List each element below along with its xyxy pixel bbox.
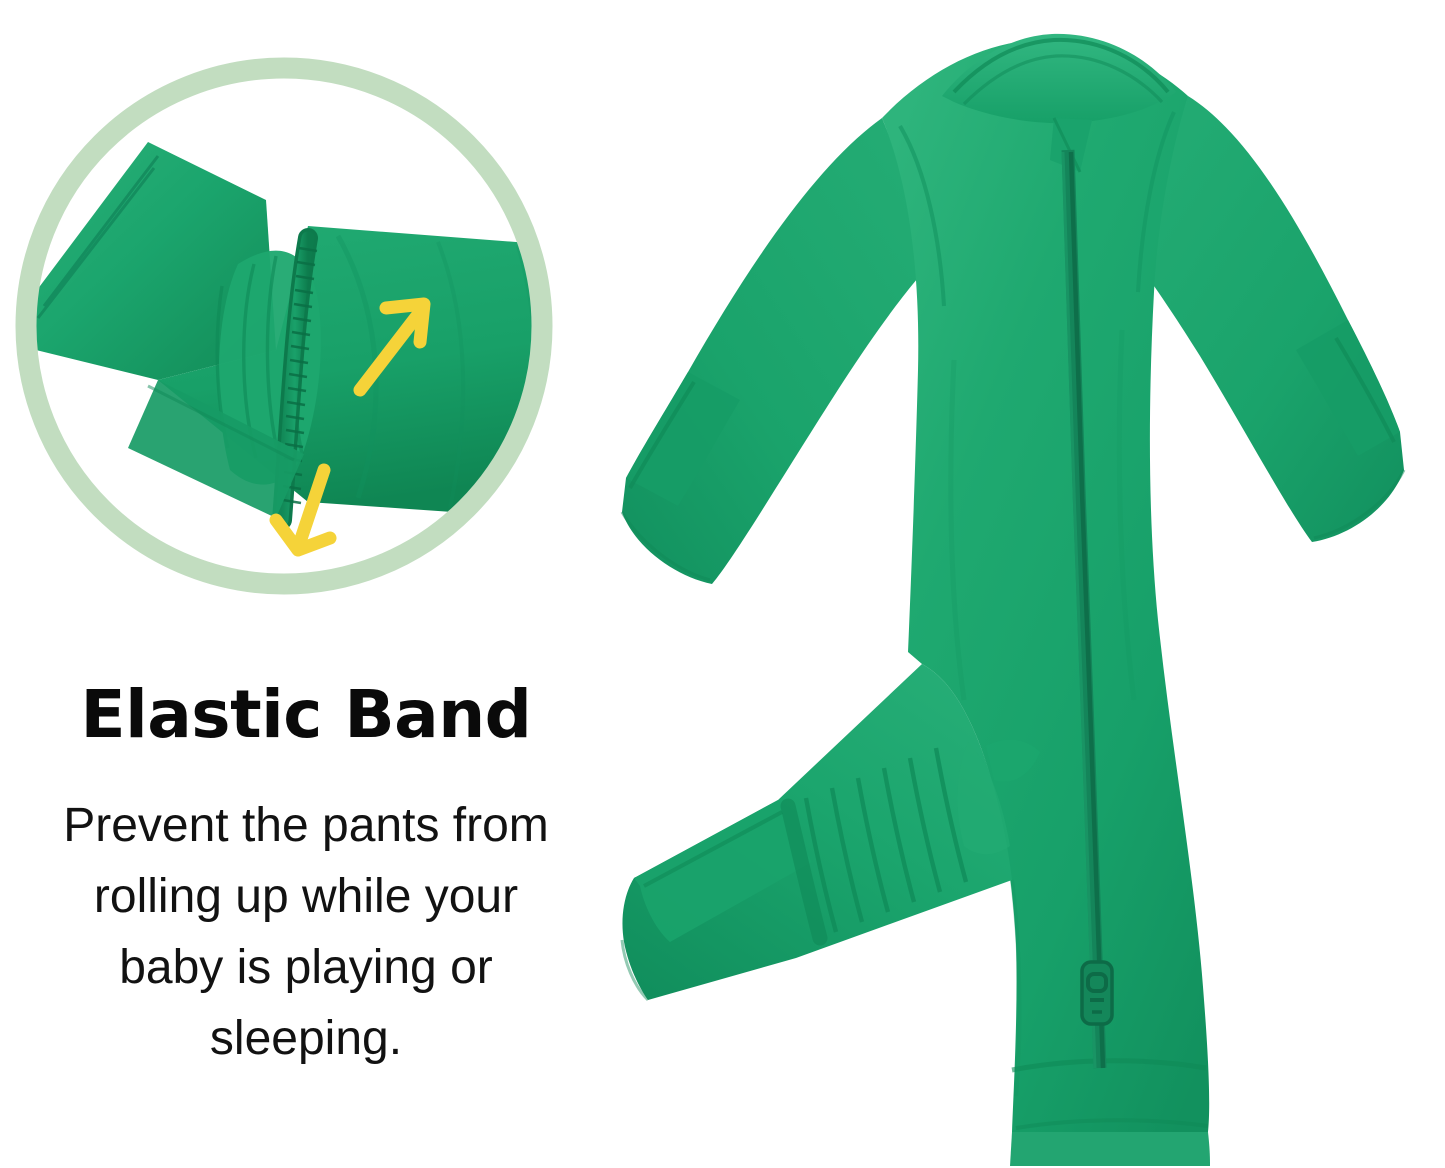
ankle-cuff-right [1010,1132,1210,1166]
page-title: Elastic Band [0,676,612,754]
inset-photo [8,50,560,602]
caption-body-text: Prevent the pants from rolling up while … [0,790,612,1074]
product-infographic: Elastic Band Prevent the pants from roll… [0,0,1445,1168]
product-photo-romper [582,0,1445,1168]
detail-inset-circle [8,50,560,602]
zipper-pull[interactable] [1082,962,1112,1024]
caption-block: Elastic Band Prevent the pants from roll… [0,676,612,1074]
